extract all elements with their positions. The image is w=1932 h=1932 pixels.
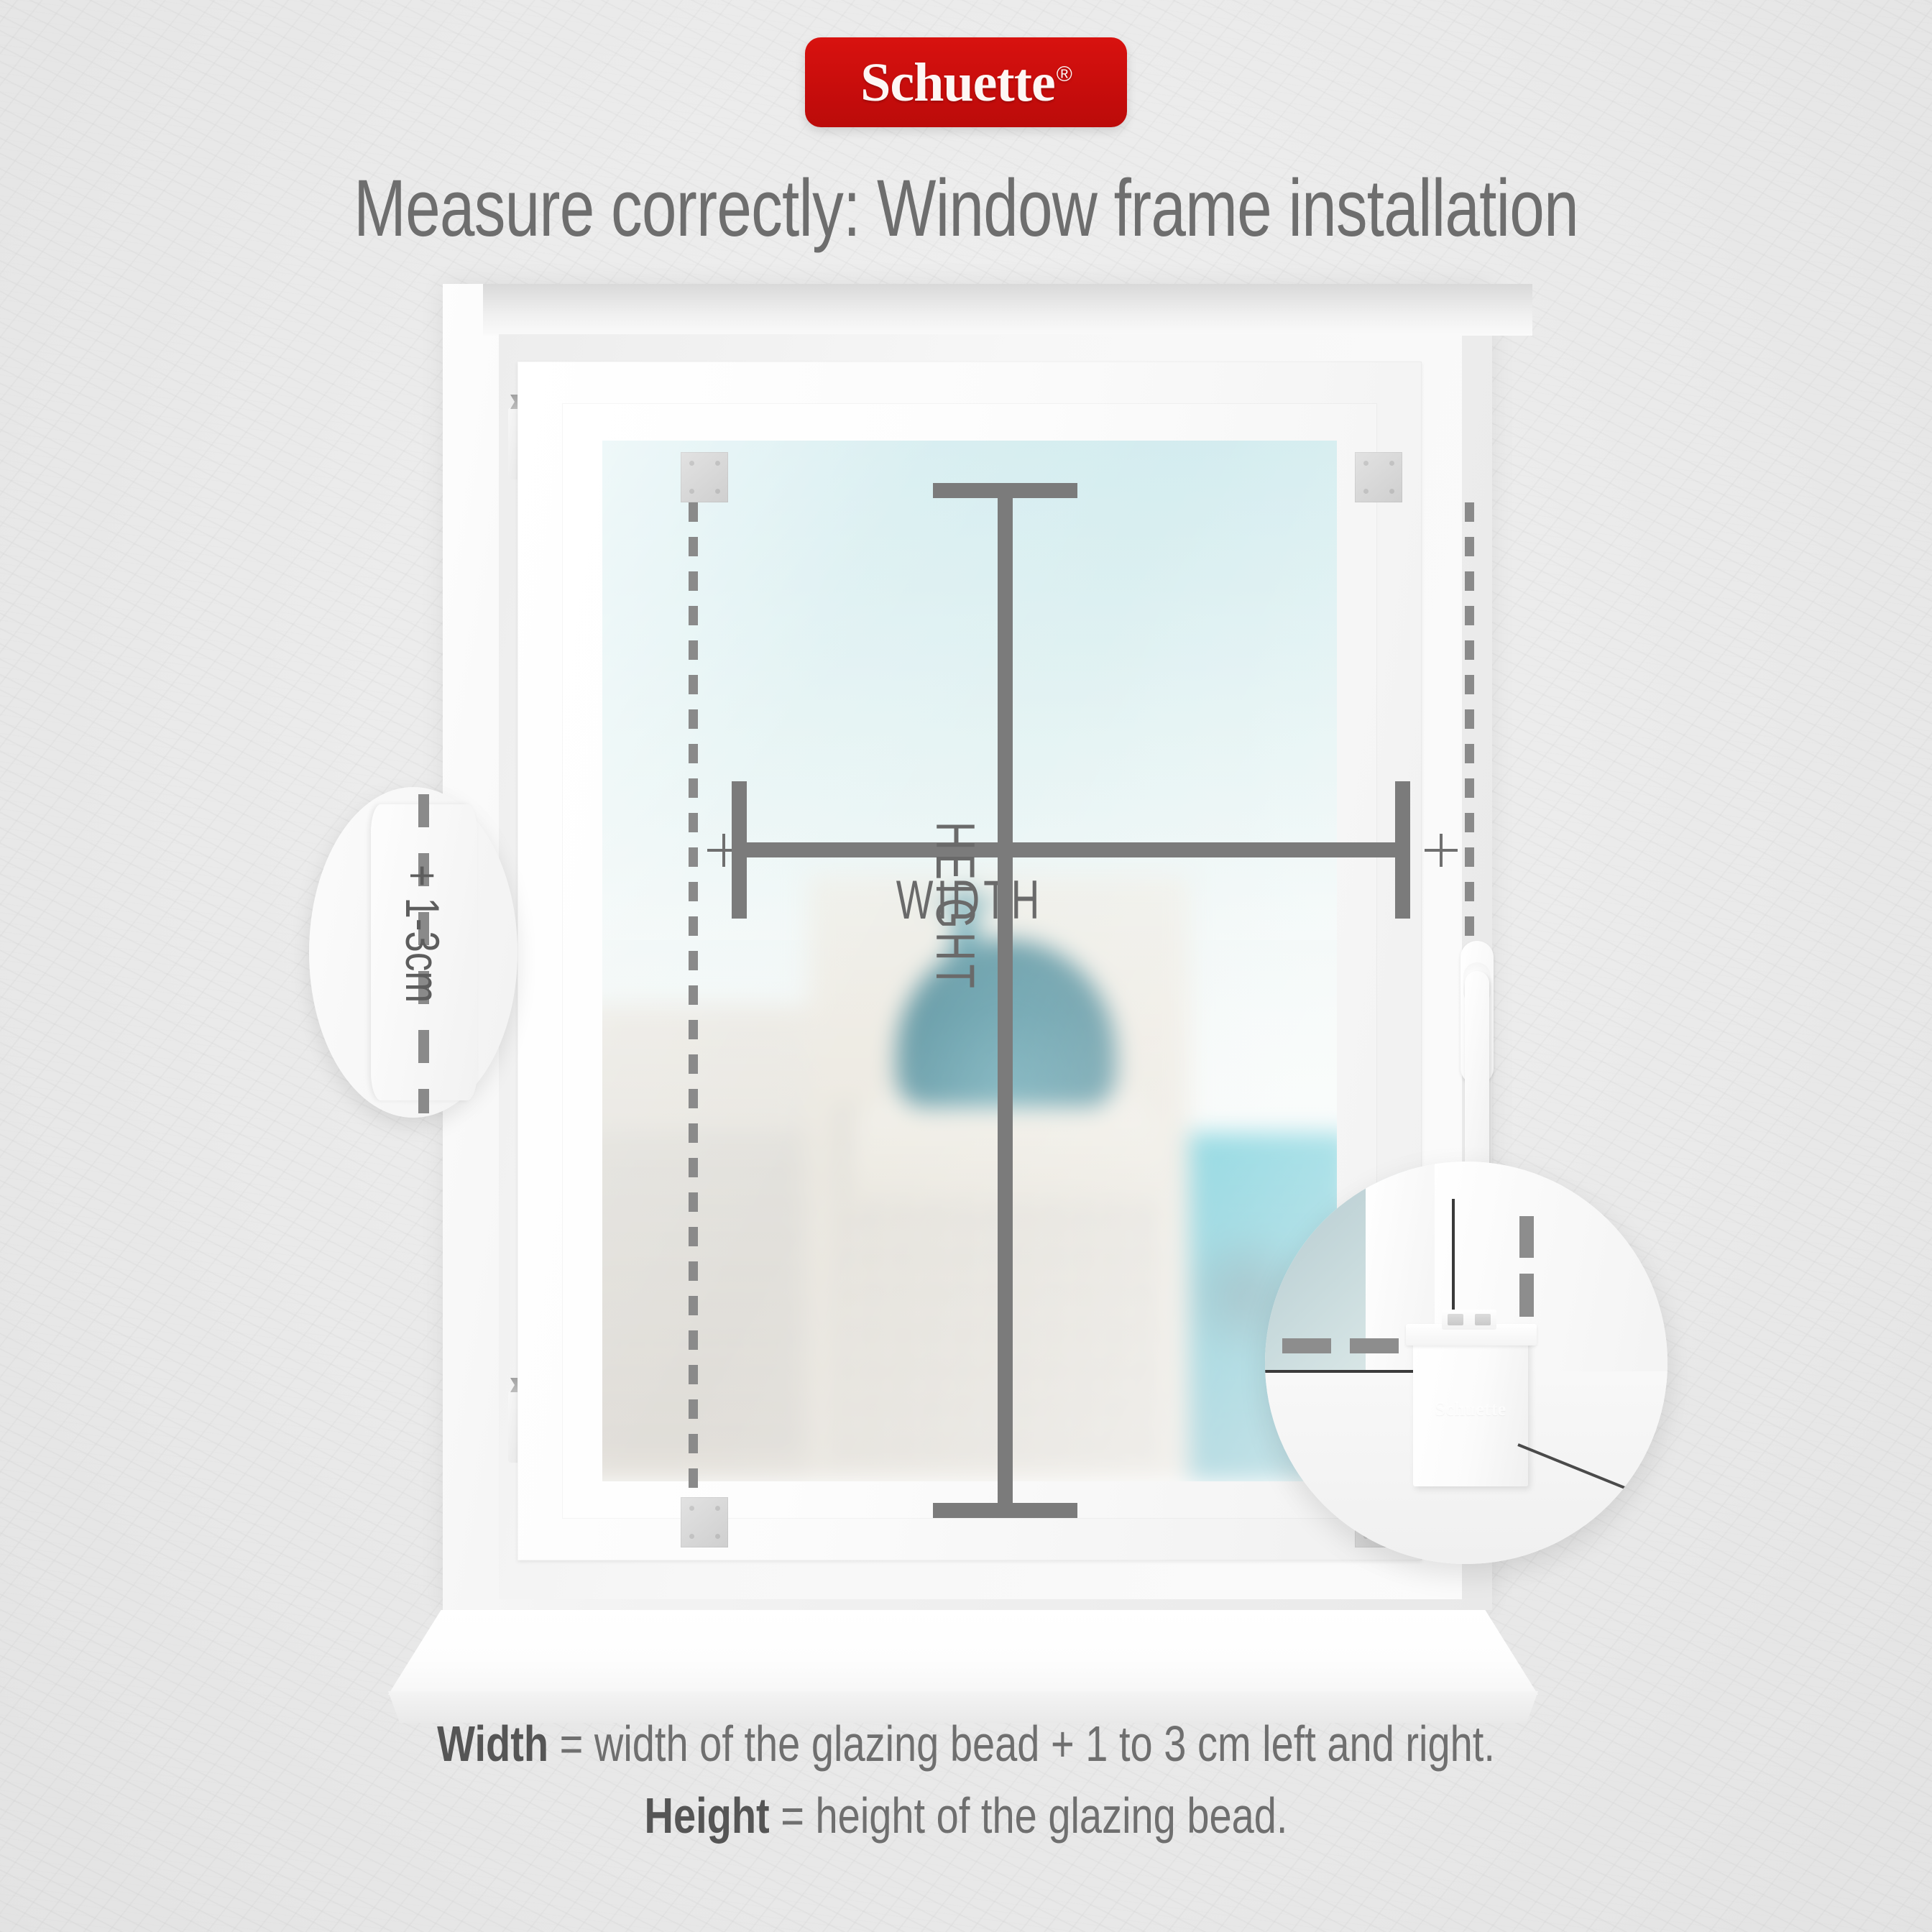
registered-trademark-icon: ® [1057,63,1072,86]
caption-block: Width = width of the glazing bead + 1 to… [0,1708,1932,1851]
mounting-bracket-top-left [681,452,728,502]
height-label: HEIGHT [924,822,986,992]
magnifier-dash-a [1282,1338,1331,1353]
width-dimension-cap-right [1395,781,1410,919]
bracket-brand-label: Schuette [1413,1399,1528,1420]
magnifier-vertical-rule [1452,1199,1455,1320]
mounting-bracket-top-right [1355,452,1402,502]
height-dimension-line [998,483,1013,1518]
width-dimension-line [732,842,1410,857]
magnifier-tolerance-content: + 1-3cm [309,787,517,1118]
height-dimension-cap-top [933,483,1077,498]
caption-line-width: Width = width of the glazing bead + 1 to… [193,1708,1739,1780]
brand-logo-text: Schuette® [860,55,1072,110]
magnifier-dash-d [1519,1274,1534,1317]
caption-width-text: = width of the glazing bead + 1 to 3 cm … [548,1716,1495,1772]
height-dimension-cap-bottom [933,1503,1077,1518]
plus-marker-right-icon [1425,834,1458,867]
caption-height-term: Height [644,1788,769,1844]
magnifier-bracket-detail: Schuette [1265,1161,1667,1564]
caption-width-term: Width [437,1716,548,1772]
page-title: Measure correctly: Window frame installa… [213,162,1720,254]
magnifier-dash-c [1519,1216,1534,1258]
tolerance-label: + 1-3cm [395,865,450,1003]
magnifier-horizontal-rule [1265,1370,1417,1373]
window-handle-lever[interactable] [1465,971,1489,1187]
blind-bracket-clip [1442,1310,1496,1330]
magnifier-dash-b [1350,1338,1399,1353]
caption-line-height: Height = height of the glazing bead. [193,1780,1739,1851]
dashed-guide-left [689,502,698,1501]
brand-logo: Schuette® [805,37,1127,127]
caption-height-text: = height of the glazing bead. [770,1788,1288,1844]
window-sill-top [388,1610,1538,1695]
reveal-bevel [483,284,1532,336]
mounting-bracket-bottom-left [681,1497,728,1547]
